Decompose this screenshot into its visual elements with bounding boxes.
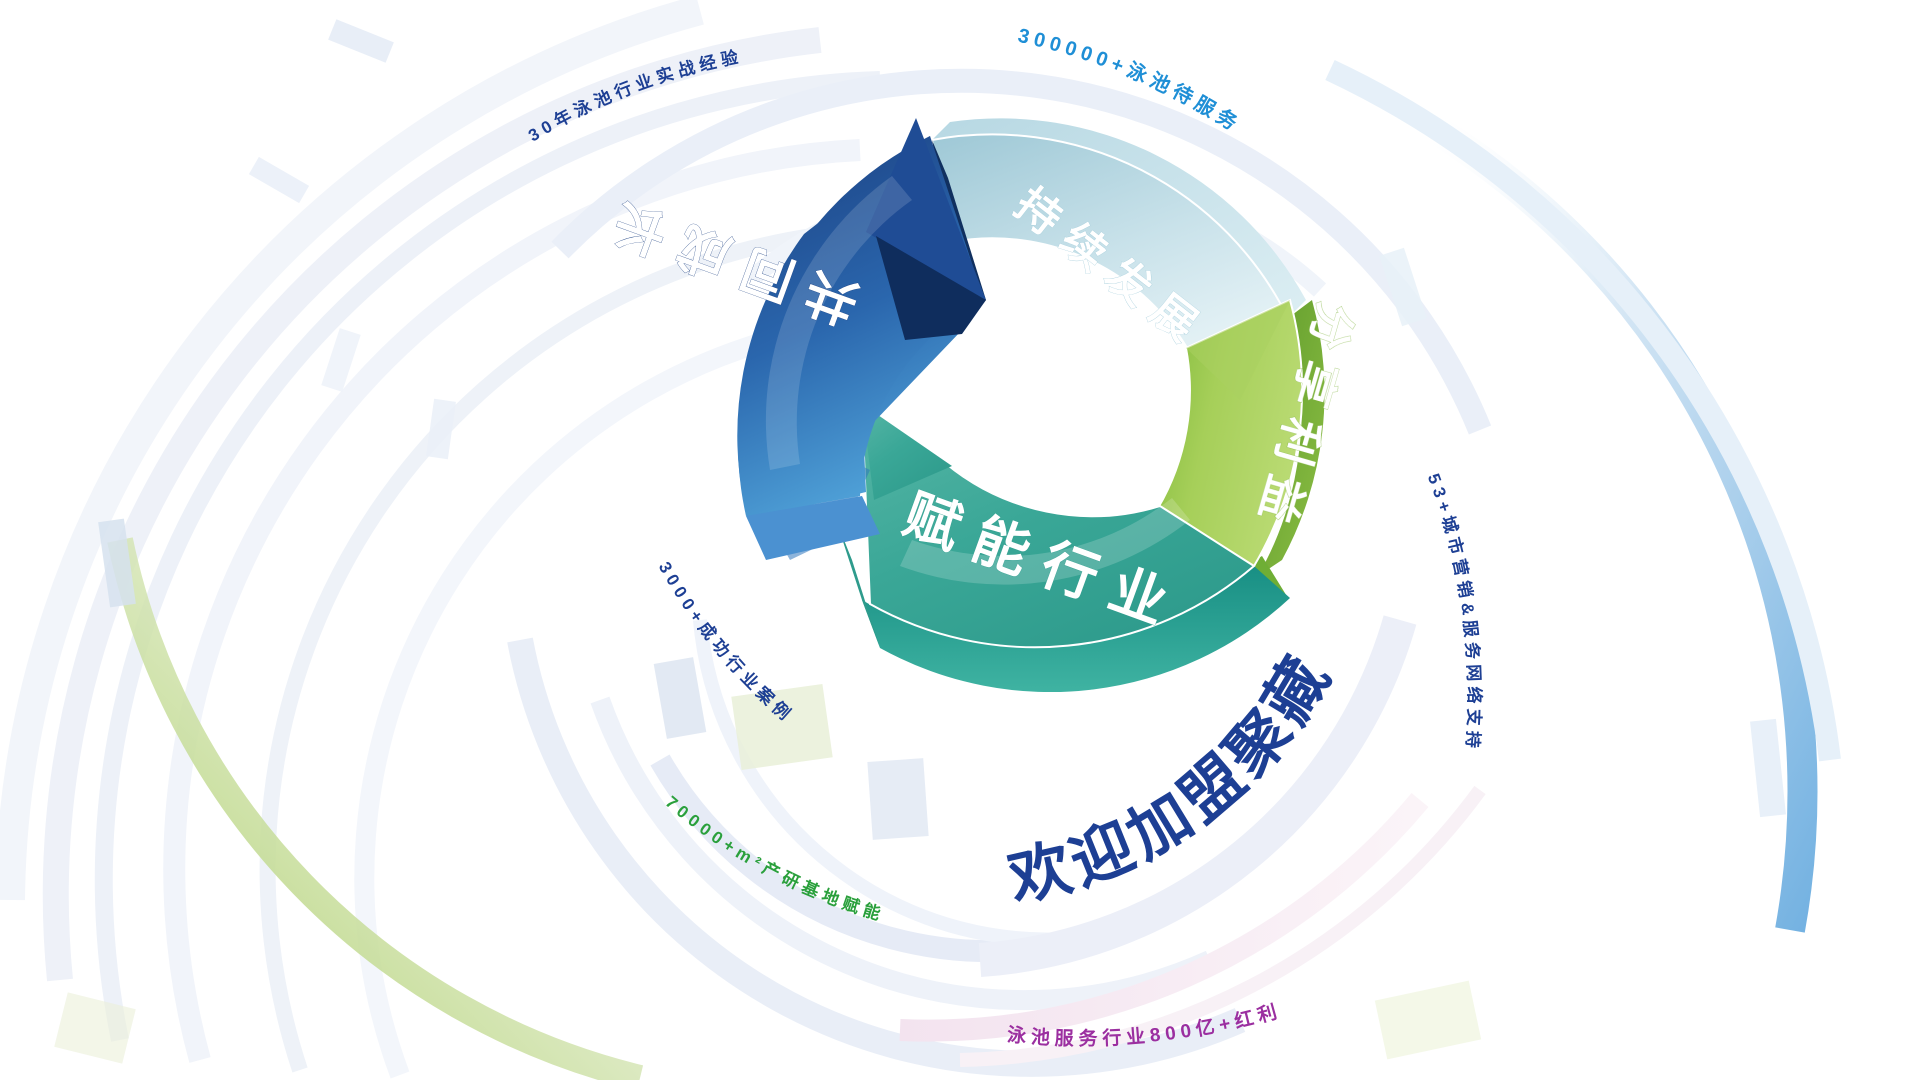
poster-canvas: 共同成长 持续发展 分享利益 赋能行业 30年泳池行业 bbox=[0, 0, 1920, 1080]
arc-label-cities: 53+城市营销&服务网络支持 bbox=[1424, 471, 1485, 754]
poster-artwork: 共同成长 持续发展 分享利益 赋能行业 30年泳池行业 bbox=[0, 0, 1920, 1080]
cycle-diagram: 共同成长 持续发展 分享利益 赋能行业 bbox=[592, 118, 1362, 692]
